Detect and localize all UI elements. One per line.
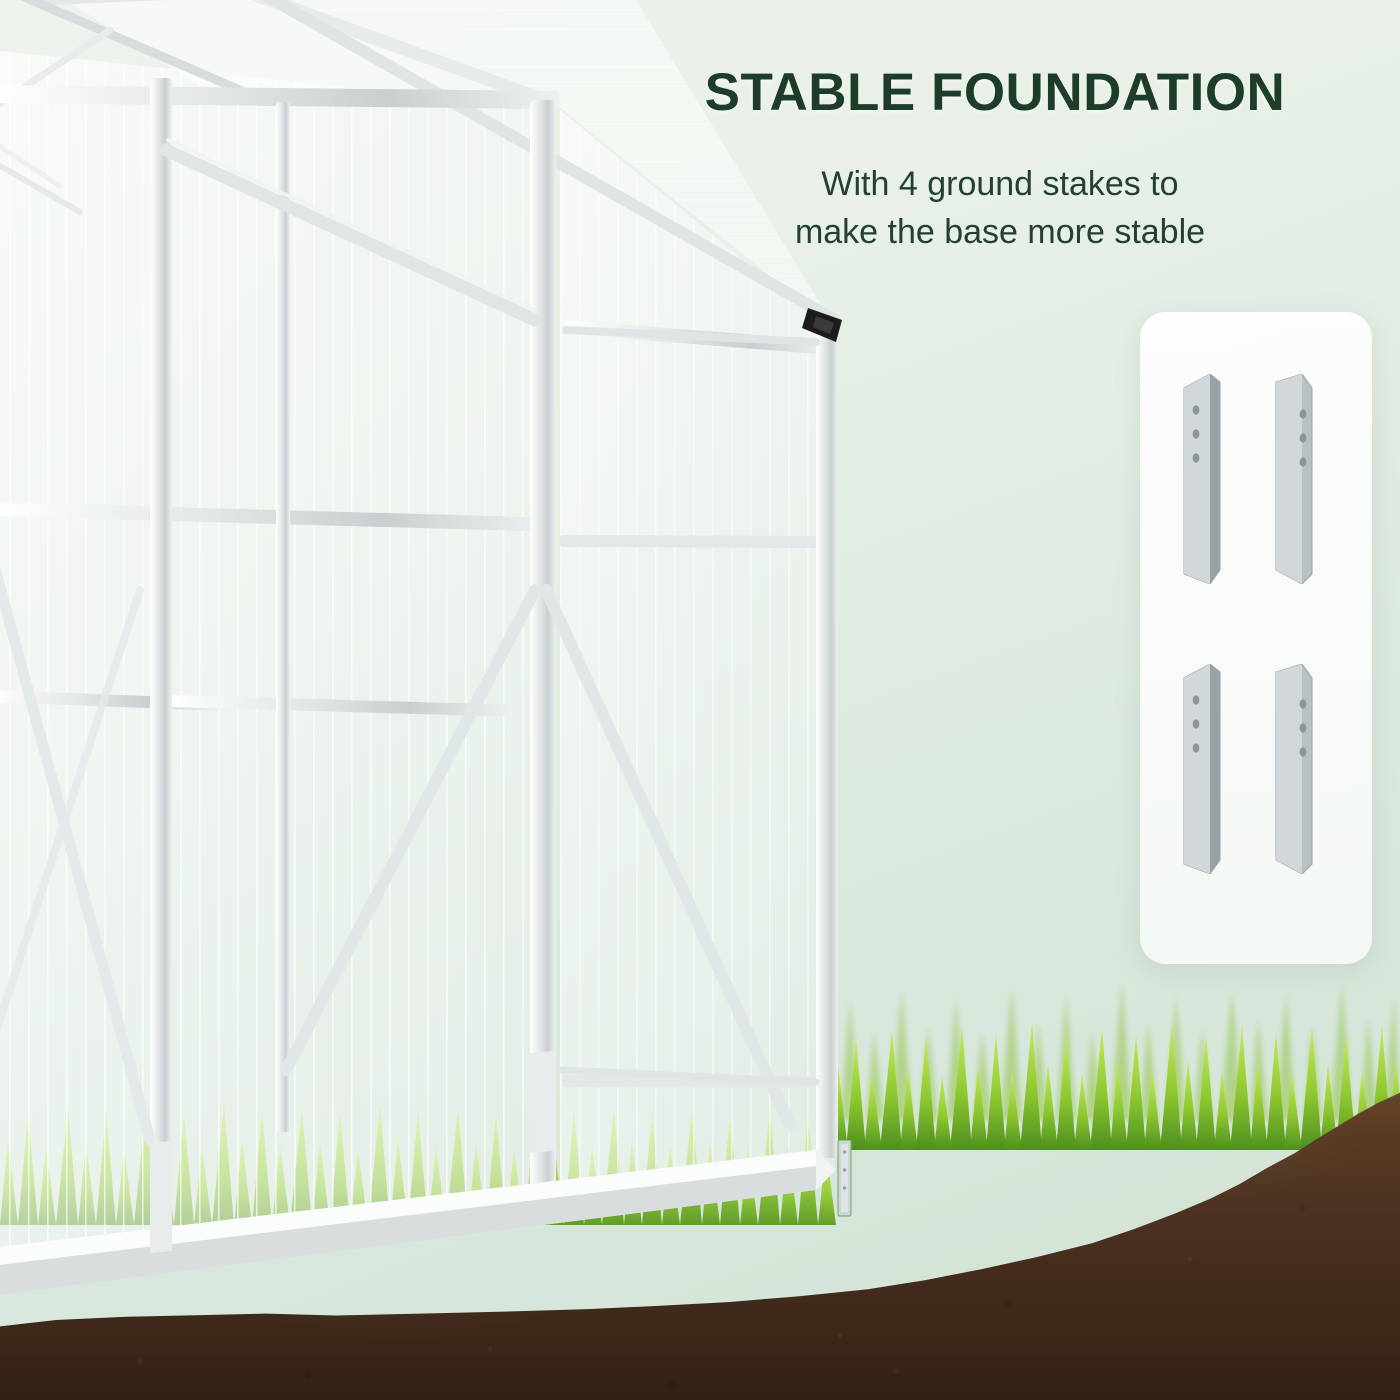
foreground-grass-right bbox=[830, 1000, 1400, 1150]
stake-2 bbox=[1272, 374, 1316, 584]
stake-1 bbox=[1180, 374, 1224, 584]
installed-ground-stake bbox=[836, 1140, 854, 1218]
ground-stakes-panel bbox=[1140, 312, 1372, 964]
product-feature-image: STABLE FOUNDATION With 4 ground stakes t… bbox=[0, 0, 1400, 1400]
subtitle-line-1: With 4 ground stakes to bbox=[640, 160, 1360, 208]
subtitle-line-2: make the base more stable bbox=[640, 208, 1360, 256]
subtitle: With 4 ground stakes to make the base mo… bbox=[640, 160, 1360, 257]
stake-3 bbox=[1180, 664, 1224, 874]
page-title: STABLE FOUNDATION bbox=[610, 62, 1380, 123]
stake-4 bbox=[1272, 664, 1316, 874]
